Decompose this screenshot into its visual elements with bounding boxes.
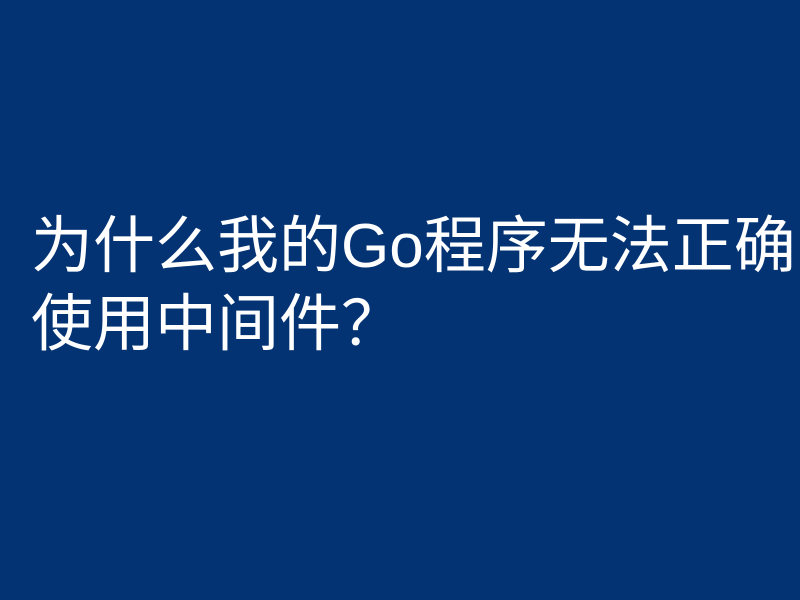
page-title: 为什么我的Go程序无法正确 使用中间件？ — [31, 208, 780, 364]
title-line-2: 使用中间件？ — [31, 286, 780, 364]
title-slide: 为什么我的Go程序无法正确 使用中间件？ — [0, 0, 800, 600]
title-line-1: 为什么我的Go程序无法正确 — [31, 208, 780, 286]
